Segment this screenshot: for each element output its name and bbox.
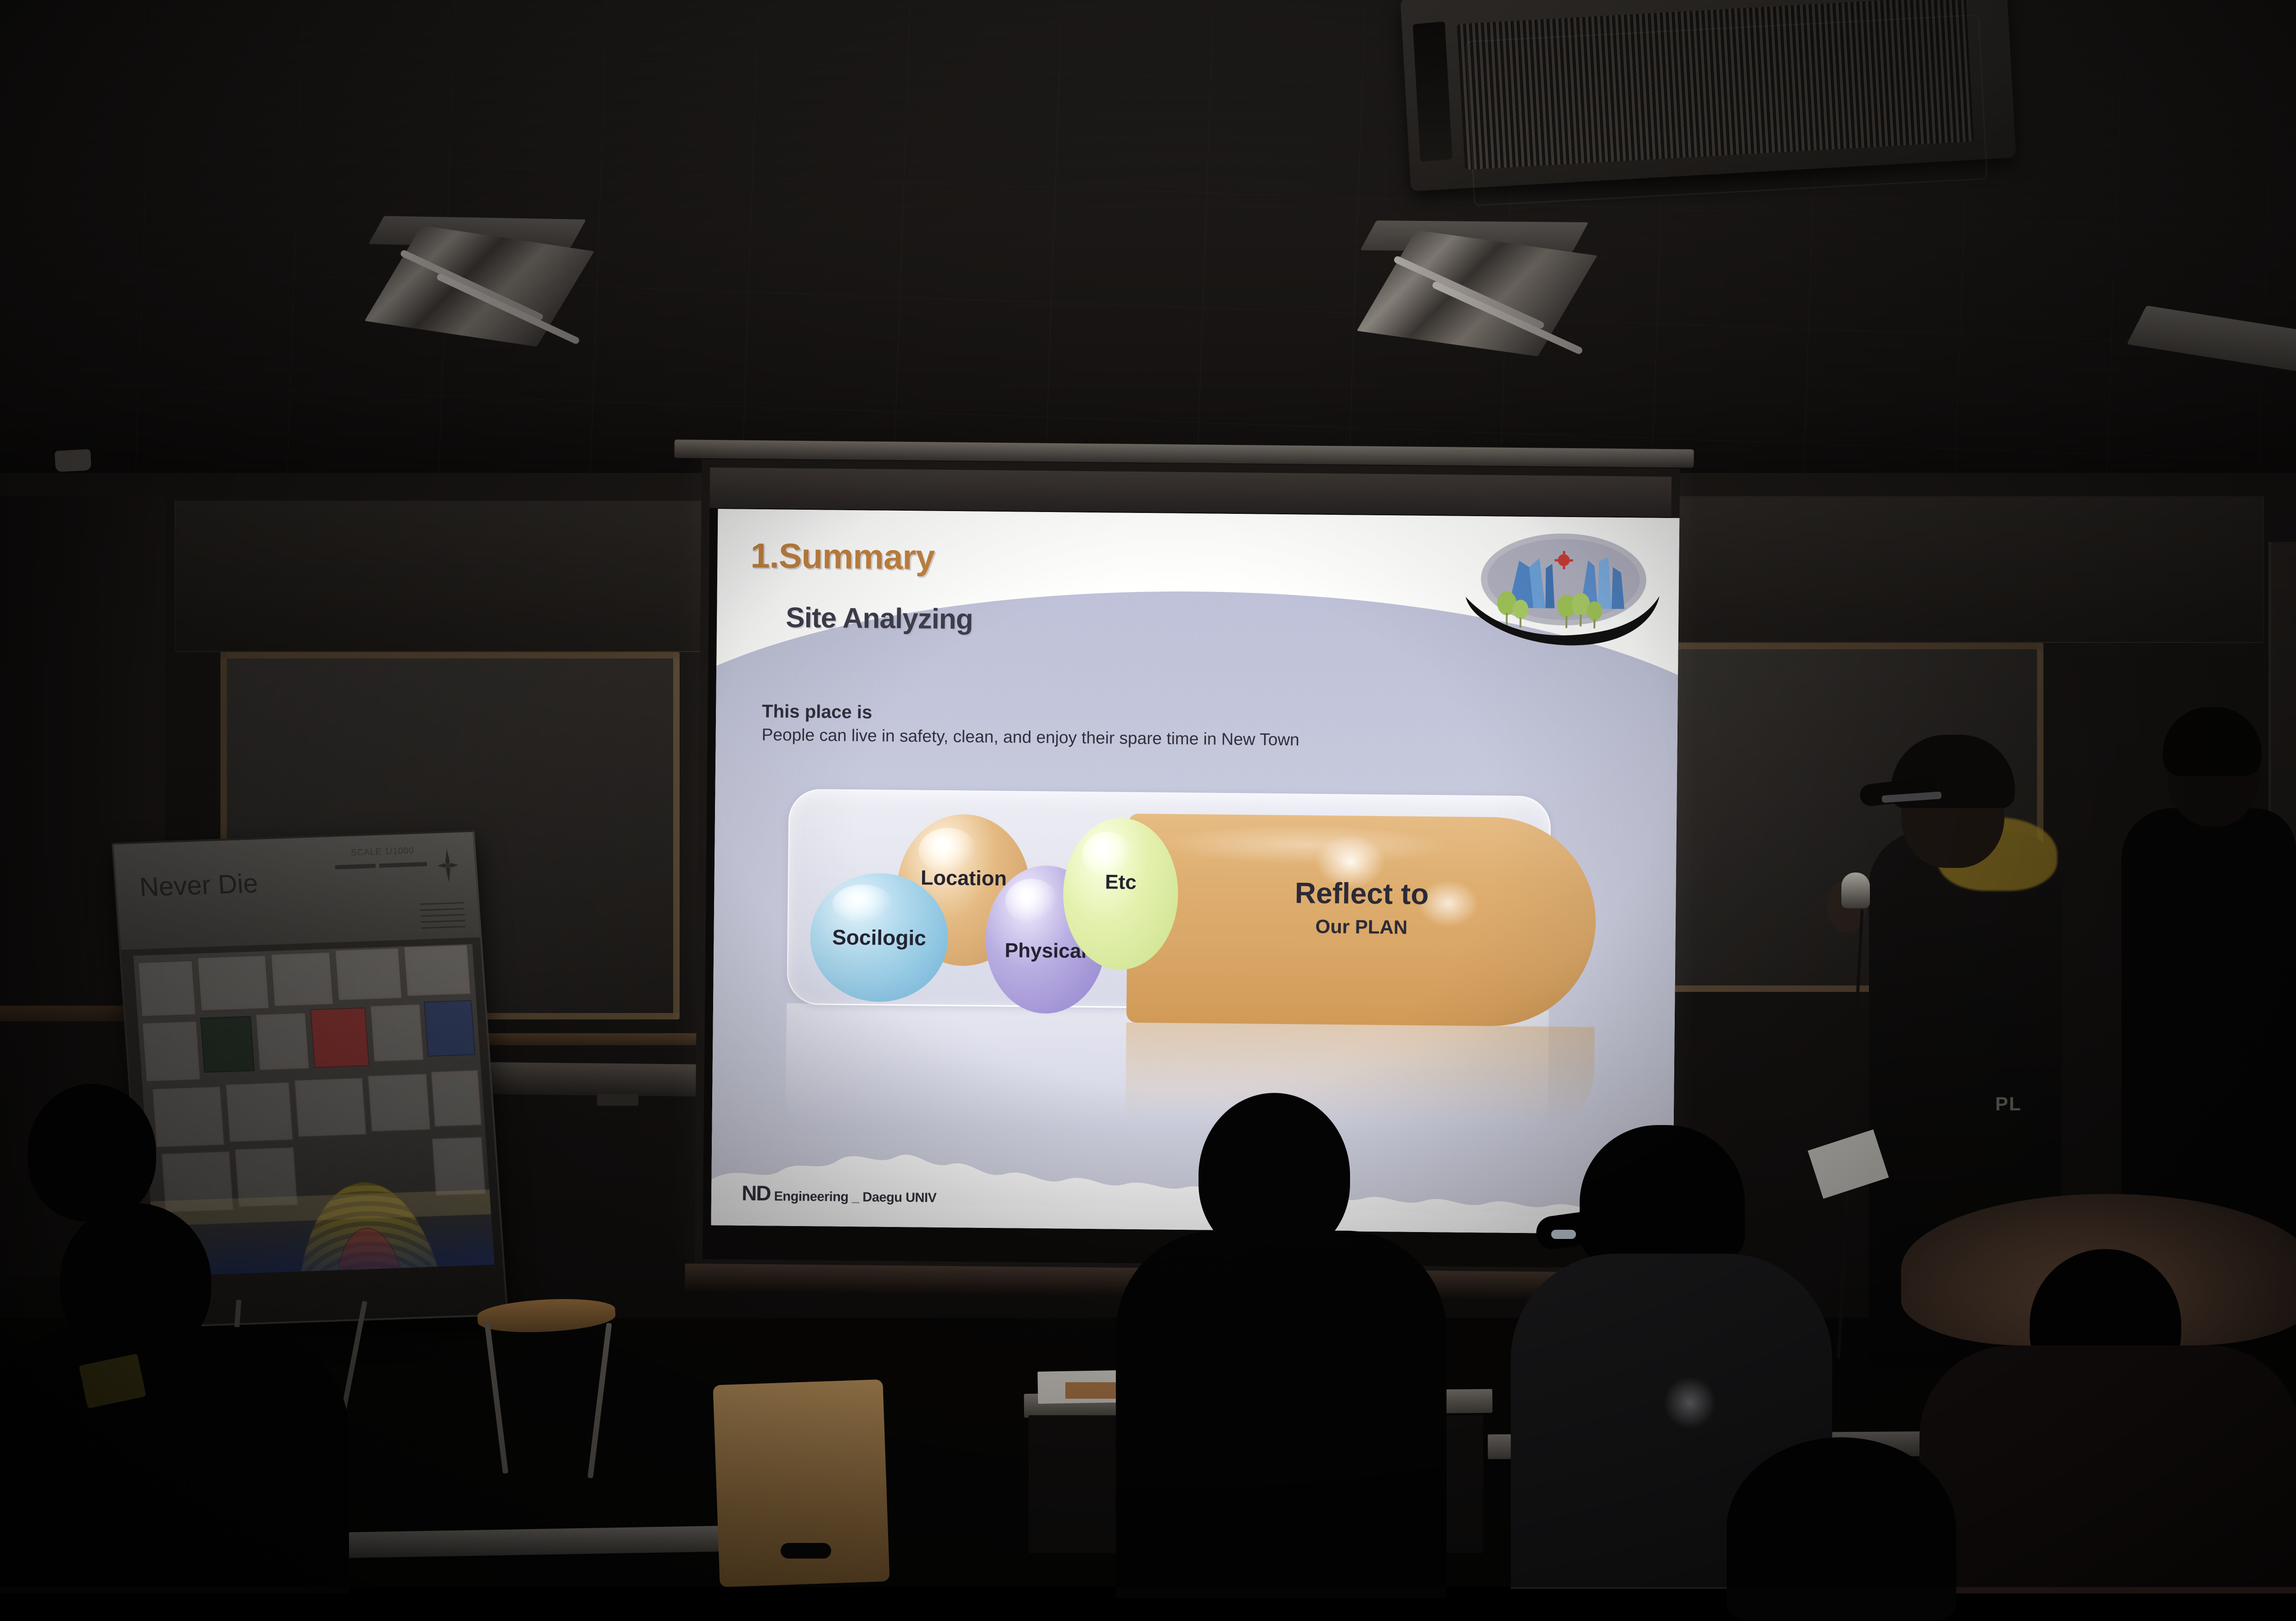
audience-foreground-right <box>1616 1437 2122 1589</box>
audience-head <box>28 1084 156 1221</box>
reflect-panel-subtitle: Our PLAN <box>1127 914 1596 940</box>
bubble-label: Physical <box>1005 939 1087 963</box>
attendee-torso <box>2122 808 2296 1258</box>
desk-row-left <box>276 1525 781 1559</box>
bubble-label: Socilogic <box>832 925 926 951</box>
ac-unit-frame <box>1465 14 1987 206</box>
fluorescent-light-fixture-right <box>1367 220 1581 367</box>
panel-gloss <box>1165 824 1447 865</box>
lecture-hall-room: 1.Summary Site Analyzing This place is P… <box>0 0 2296 1587</box>
attendee-hair <box>2163 707 2262 776</box>
eyeglass-glint <box>1551 1230 1576 1239</box>
bubble-label: Location <box>921 866 1007 890</box>
smoke-detector-icon <box>55 449 91 472</box>
wall-panel <box>174 501 716 652</box>
plan-block <box>367 1073 431 1132</box>
standing-attendee <box>2112 657 2296 1254</box>
audience-torso <box>1116 1231 1446 1598</box>
reflect-to-panel: Reflect to Our PLAN <box>1126 814 1597 1027</box>
plan-block <box>197 955 270 1011</box>
slide-title: 1.Summary <box>750 536 935 578</box>
slide-footer: ND Engineering _ Daegu UNIV <box>742 1181 937 1207</box>
audience-far-left <box>0 1084 193 1313</box>
plan-block <box>142 1021 201 1082</box>
slide-subtitle: Site Analyzing <box>786 602 973 636</box>
plan-block <box>225 1082 293 1143</box>
footer-logo-mark: ND <box>742 1181 771 1206</box>
audience-center <box>1116 1093 1446 1598</box>
plan-block <box>255 1012 310 1071</box>
north-arrow-icon <box>436 848 460 883</box>
cap-dome-icon <box>1580 1125 1745 1263</box>
chair-handle-slot <box>781 1543 831 1559</box>
fluorescent-light-fixture-left <box>374 216 579 357</box>
plan-park <box>200 1016 254 1073</box>
plan-block <box>334 947 402 1001</box>
screen-top-mask <box>709 467 1671 517</box>
plan-block <box>403 944 471 997</box>
plan-block <box>370 1004 424 1063</box>
hoodie-graphic <box>1662 1378 1717 1428</box>
plan-block <box>270 951 334 1007</box>
bubble-sociologic: Socilogic <box>810 872 949 1002</box>
wall-panel <box>1653 496 2264 643</box>
poster-legend <box>420 902 466 929</box>
footer-text: Engineering _ Daegu UNIV <box>774 1189 936 1205</box>
audience-torso <box>0 1327 349 1593</box>
stool-leg <box>484 1323 508 1474</box>
ac-vane-icon <box>1412 22 1452 162</box>
reflect-panel-title: Reflect to <box>1127 874 1596 913</box>
microphone-icon <box>1841 872 1870 908</box>
bubble-label: Etc <box>1105 871 1137 894</box>
slide-lead-heading: This place is <box>762 701 872 723</box>
audience-head <box>1727 1437 1956 1621</box>
plan-block <box>137 960 196 1017</box>
plan-block <box>430 1069 482 1127</box>
poster-title: Never Die <box>139 868 259 903</box>
marker-on-ledge <box>597 1094 638 1106</box>
plan-block <box>432 1137 486 1196</box>
plan-water-feature <box>424 1000 475 1057</box>
object-on-desk <box>1065 1382 1120 1399</box>
jacket-logo-text: PL <box>1995 1093 2022 1115</box>
plan-landmark-building <box>310 1007 369 1068</box>
stool-leg <box>587 1323 612 1479</box>
city-skyline-illustration <box>1464 527 1663 653</box>
plan-block <box>294 1077 367 1137</box>
